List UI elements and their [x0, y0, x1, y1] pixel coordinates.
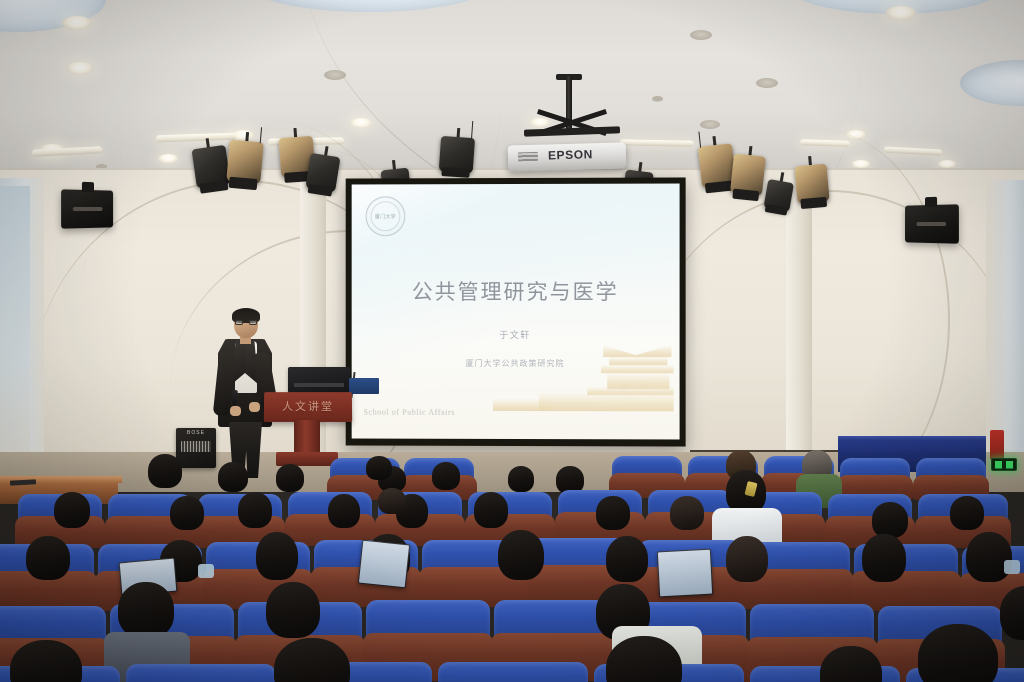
seat [916, 458, 986, 498]
projection-screen: 厦门大学 [346, 177, 686, 446]
audience-head [378, 488, 406, 514]
audience-head [606, 536, 648, 582]
projector-brand-label: EPSON [548, 147, 593, 162]
downlight-2 [66, 62, 94, 75]
downlight-12 [530, 118, 550, 127]
seal-label: 厦门大学 [367, 213, 405, 220]
spotlight-antenna [471, 121, 473, 139]
left-wall-blue-accent [0, 186, 30, 476]
audience-head [276, 464, 304, 492]
stage-spotlight-2 [225, 131, 264, 194]
downlight-11 [756, 78, 778, 88]
wall-speaker-left [61, 189, 113, 228]
stage-spotlight-6 [438, 127, 475, 179]
university-seal-icon: 厦门大学 [366, 196, 406, 236]
downlight-10 [886, 6, 916, 20]
audience-head [366, 456, 392, 480]
downlight-1 [62, 16, 92, 30]
audience-laptop [657, 549, 713, 598]
audience-head [328, 494, 360, 528]
lectern-calligraphy: 人文讲堂 [264, 398, 352, 414]
seat [840, 458, 910, 498]
audience-head [148, 454, 182, 488]
audience-head [596, 496, 630, 530]
slide-surface: 厦门大学 [352, 184, 680, 440]
downlight-7 [350, 118, 372, 128]
seat [438, 662, 588, 682]
downlight-15 [938, 160, 956, 168]
glasses-icon [235, 320, 257, 325]
podium-laptop [288, 367, 350, 393]
speaker-grill [73, 207, 102, 211]
audience-seating [0, 440, 1024, 682]
slide-temple-graphic [483, 337, 674, 411]
audience-head [498, 530, 544, 580]
downlight-9 [690, 30, 712, 40]
audience-head [256, 532, 298, 580]
audience-head [170, 496, 204, 530]
speaker-mount-icon [82, 182, 94, 192]
presenter-hand-right [249, 402, 260, 412]
audience-head [670, 496, 704, 530]
audience-head [862, 534, 906, 582]
slide-footer-text: School of Public Affairs [364, 408, 455, 417]
spotlight-barndoor [229, 177, 258, 190]
seat [126, 664, 276, 682]
audience-head [474, 492, 508, 528]
slide-author: 于文轩 [352, 328, 680, 341]
face-mask [198, 564, 214, 578]
audience-head [950, 496, 984, 530]
audience-head [54, 492, 90, 528]
wall-speaker-right [905, 204, 959, 243]
audience-head [432, 462, 460, 490]
podium-control-panel [349, 378, 379, 394]
audience-head [918, 624, 998, 682]
audience-head [508, 466, 534, 492]
epson-projector: EPSON [508, 142, 627, 171]
speaker-grill [916, 222, 946, 226]
smoke-detector-2 [652, 96, 663, 101]
presenter-hand-left [230, 406, 241, 416]
audience-laptop [358, 540, 410, 589]
stage-spotlight-10 [794, 155, 831, 212]
downlight-6 [324, 70, 346, 80]
strip-light-4 [620, 139, 694, 146]
audience-head [118, 582, 174, 638]
speaker-brand-label: BOSE [176, 430, 216, 436]
audience-head [26, 536, 70, 580]
spotlight-barndoor [441, 167, 470, 178]
speaker-mount-icon [925, 197, 937, 207]
stage-spotlight-9 [729, 144, 767, 203]
spotlight-barndoor [800, 197, 827, 209]
wall-pillar-right [786, 180, 812, 470]
downlight-14 [700, 120, 720, 129]
lecture-hall-photo: EPSON [0, 0, 1024, 682]
audience-head [966, 532, 1012, 582]
laptop-hinge [294, 383, 344, 387]
spotlight-antenna [260, 127, 262, 143]
audience-head [218, 462, 248, 492]
audience-head [872, 502, 908, 538]
face-mask [1004, 560, 1020, 574]
lectern: 人文讲堂 [264, 392, 352, 422]
spotlight-barndoor [732, 189, 759, 202]
slide-title: 公共管理研究与医学 [352, 276, 680, 306]
audience-head [266, 582, 320, 638]
downlight-5 [158, 154, 178, 163]
audience-head [238, 492, 272, 528]
audience-head [726, 536, 768, 582]
slide-affiliation: 厦门大学公共政策研究院 [352, 358, 680, 369]
projector-vent-icon [518, 152, 538, 162]
